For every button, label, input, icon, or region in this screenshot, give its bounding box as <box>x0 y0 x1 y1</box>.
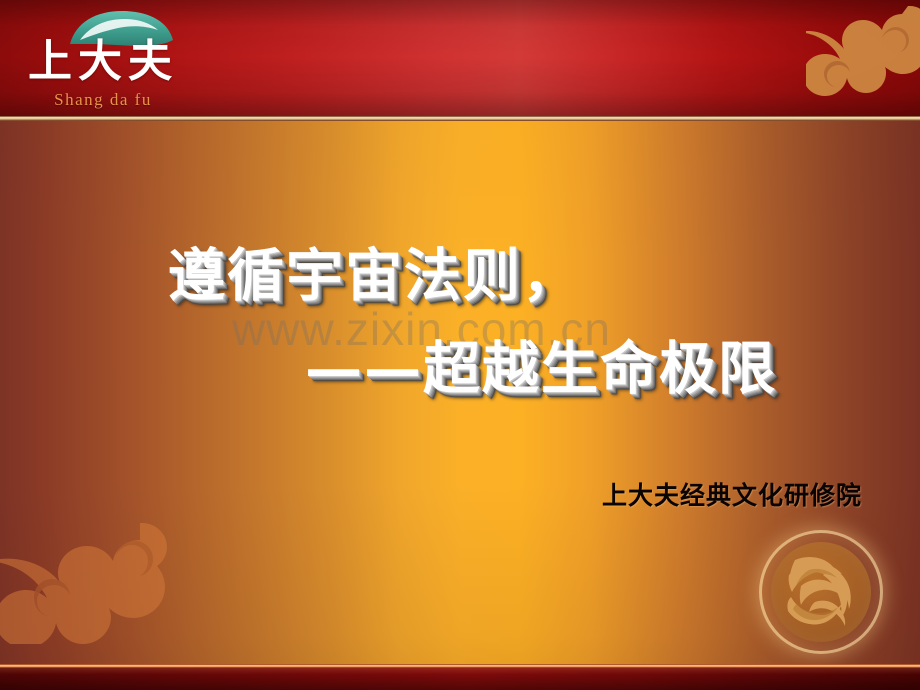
header-gold-divider <box>0 116 920 121</box>
logo-pinyin-text: Shang da fu <box>18 90 188 110</box>
auspicious-cloud-icon-top-right <box>806 6 920 111</box>
slide-title-line-1: 遵循宇宙法则， <box>168 243 581 309</box>
logo-chinese-characters: 上大夫 <box>18 36 188 88</box>
auspicious-cloud-icon-bottom-left <box>0 494 200 644</box>
slide-title-line-2: ——超越生命极限 <box>305 336 777 402</box>
phoenix-medallion-icon <box>762 533 880 651</box>
footer-shading <box>0 668 920 690</box>
medallion-glow-ring <box>762 533 880 651</box>
slide-footer-band <box>0 668 920 690</box>
brand-logo[interactable]: 上大夫 Shang da fu <box>18 6 188 114</box>
presentation-slide: 遵循宇宙法则， www.zixin.com.cn ——超越生命极限 上大夫经典文… <box>0 0 920 690</box>
organization-name: 上大夫经典文化研修院 <box>602 476 862 512</box>
slide-header-band: 上大夫 Shang da fu <box>0 0 920 118</box>
